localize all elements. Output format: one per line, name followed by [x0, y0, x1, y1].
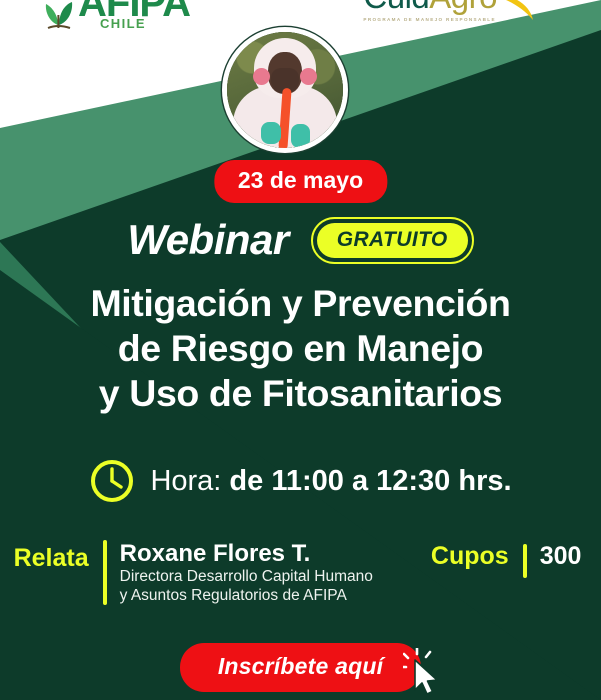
schedule-row: Hora: de 11:00 a 12:30 hrs.	[0, 458, 601, 504]
capacity-block: Cupos 300	[431, 540, 582, 578]
schedule-label: Hora:	[150, 465, 221, 497]
title-line-2: de Riesgo en Manejo	[0, 326, 601, 371]
webinar-heading-row: Webinar GRATUITO	[0, 216, 601, 264]
clock-icon	[89, 458, 135, 504]
portrait-glove-left	[261, 122, 281, 144]
leaf-plant-icon	[42, 0, 76, 31]
poster-content: AFIPA CHILE CuidAgro PROGRAMA DE MANEJO …	[0, 0, 601, 700]
afipa-logo: AFIPA CHILE	[42, 0, 190, 31]
details-row: Relata Roxane Flores T. Directora Desarr…	[0, 540, 601, 605]
cuidagro-subtitle: PROGRAMA DE MANEJO RESPONSABLE	[363, 17, 497, 22]
webinar-word: Webinar	[127, 216, 288, 264]
speaker-name: Roxane Flores T.	[120, 540, 373, 567]
speaker-divider	[103, 540, 107, 605]
gratuito-badge-ring: GRATUITO	[311, 217, 474, 264]
register-button[interactable]: Inscríbete aquí	[180, 643, 421, 692]
afipa-wordmark: AFIPA CHILE	[78, 0, 190, 31]
speaker-block: Relata Roxane Flores T. Directora Desarr…	[14, 540, 373, 605]
title-line-1: Mitigación y Prevención	[0, 281, 601, 326]
title-line-3: y Uso de Fitosanitarios	[0, 371, 601, 416]
portrait-glove-right	[291, 124, 310, 148]
schedule-text: Hora: de 11:00 a 12:30 hrs.	[150, 465, 511, 497]
cta-wrapper: Inscríbete aquí	[0, 643, 601, 692]
capacity-label: Cupos	[431, 542, 523, 571]
speaker-role-line-2: y Asuntos Regulatorios de AFIPA	[120, 586, 373, 605]
speaker-role-line-1: Directora Desarrollo Capital Humano	[120, 567, 373, 586]
speaker-label: Relata	[14, 540, 103, 573]
schedule-value: de 11:00 a 12:30 hrs.	[229, 465, 511, 497]
event-date-badge: 23 de mayo	[214, 160, 387, 203]
cuidagro-logo: CuidAgro PROGRAMA DE MANEJO RESPONSABLE	[363, 0, 539, 22]
click-cursor-icon	[403, 648, 447, 696]
swoosh-arrow-icon	[493, 0, 539, 22]
cuidagro-name-part2: Agro	[429, 0, 497, 15]
speaker-portrait-circle	[222, 27, 348, 153]
page-title: Mitigación y Prevención de Riesgo en Man…	[0, 281, 601, 416]
portrait-mask-filter-right	[300, 68, 317, 85]
webinar-poster: AFIPA CHILE CuidAgro PROGRAMA DE MANEJO …	[0, 0, 601, 700]
gratuito-badge: GRATUITO	[317, 223, 468, 258]
cuidagro-name-part1: Cuid	[363, 0, 429, 15]
cuidagro-name: CuidAgro	[363, 0, 497, 14]
cuidagro-wordmark: CuidAgro PROGRAMA DE MANEJO RESPONSABLE	[363, 0, 497, 22]
portrait-mask-filter-left	[253, 68, 270, 85]
speaker-texts: Roxane Flores T. Directora Desarrollo Ca…	[120, 540, 373, 605]
capacity-divider	[523, 544, 527, 578]
portrait-image	[227, 32, 343, 148]
capacity-value: 300	[540, 542, 582, 571]
